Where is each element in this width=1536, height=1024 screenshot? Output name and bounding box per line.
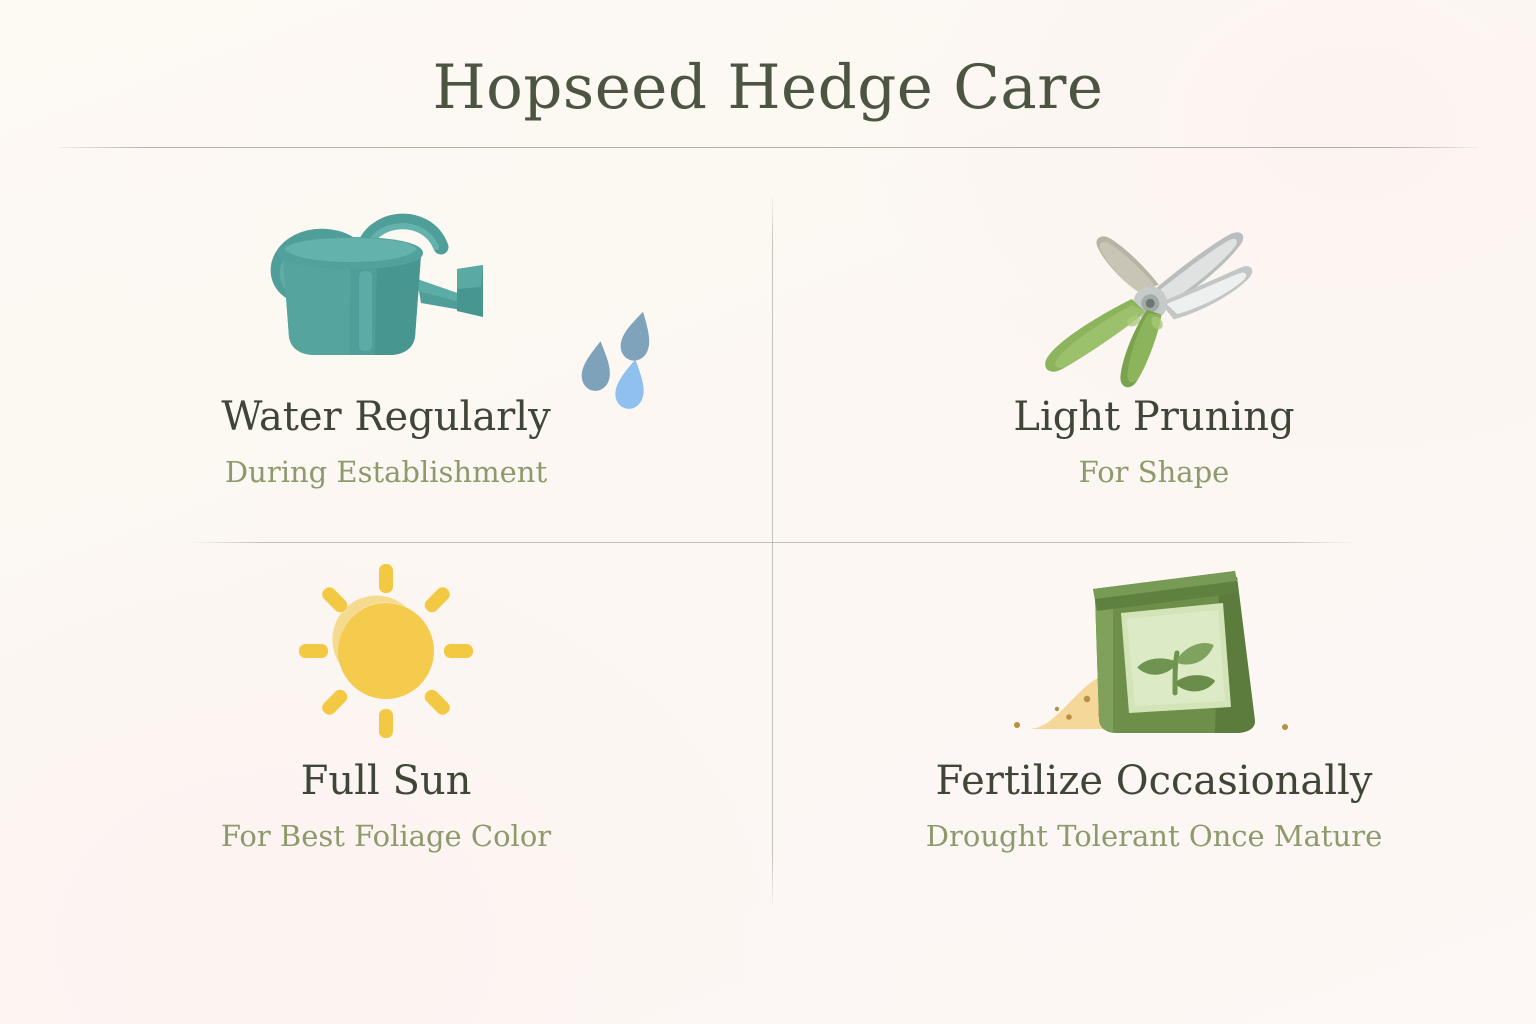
- care-card-subtitle: During Establishment: [225, 457, 547, 489]
- care-card-water: Water Regularly During Establishment: [0, 175, 772, 543]
- title-divider: [60, 147, 1478, 148]
- care-card-sun: Full Sun For Best Foliage Color: [0, 543, 772, 935]
- care-card-pruning: Light Pruning For Shape: [772, 175, 1536, 543]
- care-card-title: Full Sun: [301, 759, 472, 803]
- care-card-fertilize: Fertilize Occasionally Drought Tolerant …: [772, 543, 1536, 935]
- care-card-title: Light Pruning: [1013, 395, 1294, 439]
- fertilizer-bag-icon: [1009, 559, 1299, 749]
- sun-icon: [286, 559, 486, 749]
- page-title: Hopseed Hedge Care: [0, 52, 1536, 123]
- care-card-subtitle: For Shape: [1079, 457, 1230, 489]
- care-card-title: Water Regularly: [221, 395, 550, 439]
- watering-can-icon: [231, 189, 541, 389]
- care-card-title: Fertilize Occasionally: [936, 759, 1373, 803]
- pruning-shears-icon: [1019, 189, 1289, 389]
- infographic-page: Hopseed Hedge Care: [0, 0, 1536, 1024]
- care-grid: Water Regularly During Establishment: [0, 175, 1536, 935]
- care-card-subtitle: Drought Tolerant Once Mature: [926, 821, 1382, 853]
- care-card-subtitle: For Best Foliage Color: [221, 821, 551, 853]
